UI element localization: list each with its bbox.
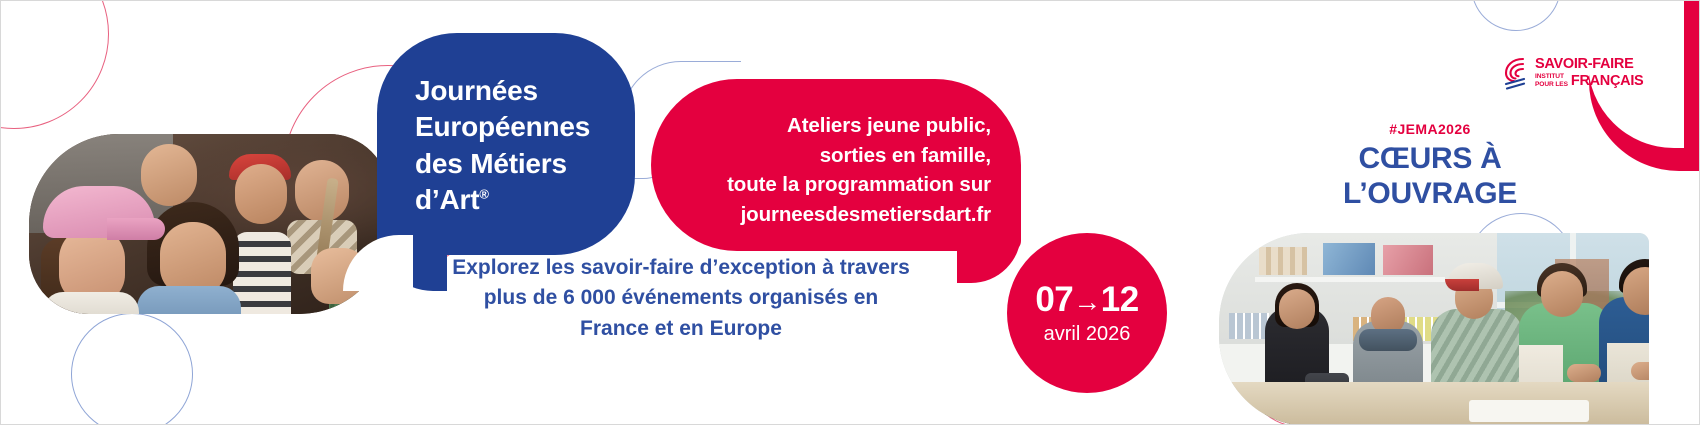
- campaign-headline-line-2: L’OUVRAGE: [1343, 177, 1517, 210]
- color-swatch-one: [1229, 313, 1269, 339]
- event-title: Journées Européennes des Métiers d’Art®: [415, 73, 621, 219]
- logo-line-two: INSTITUT POUR LES FRANÇAIS: [1535, 73, 1643, 89]
- right-panel: SAVOIR-FAIRE INSTITUT POUR LES FRANÇAIS …: [1191, 1, 1700, 425]
- logo-subtitle-line-2: POUR LES: [1535, 81, 1568, 89]
- wall-artwork-one: [1259, 247, 1307, 275]
- event-title-line-1: Journées: [415, 75, 538, 106]
- event-description-line-2: plus de 6 000 événements organisés en: [484, 286, 879, 309]
- program-info-line-2: sorties en famille,: [820, 144, 991, 167]
- logo-subtitle: INSTITUT POUR LES: [1535, 73, 1568, 89]
- visitor-two-scarf: [1359, 329, 1417, 351]
- logo-line-savoir-faire: SAVOIR-FAIRE: [1535, 57, 1643, 72]
- visitor-three-cap-brim: [1445, 279, 1479, 291]
- artisan-one-face: [1541, 271, 1583, 317]
- striped-shirt-person: [233, 232, 291, 314]
- wall-artwork-three: [1383, 245, 1433, 275]
- left-photo-children-craft-demo: [29, 134, 389, 314]
- event-title-line-3: des Métiers: [415, 148, 567, 179]
- arrow-right-icon: →: [1073, 286, 1101, 317]
- campaign-hashtag: #JEMA2026: [1191, 121, 1669, 137]
- visitor-one-face: [1279, 289, 1315, 329]
- event-description: Explorez les savoir-faire d’exception à …: [401, 253, 961, 344]
- event-date-badge: 07→12 avril 2026: [1007, 233, 1167, 393]
- child-one-body: [43, 292, 139, 314]
- woman-face: [141, 144, 197, 206]
- date-range: 07→12: [1035, 282, 1138, 317]
- event-title-line-4: d’Art: [415, 184, 479, 215]
- wall-artwork-two: [1323, 243, 1375, 275]
- logo-subtitle-line-1: INSTITUT: [1535, 73, 1568, 81]
- child-two-body: [137, 286, 241, 314]
- campaign-headline-line-1: CŒURS À: [1359, 142, 1502, 175]
- event-description-line-3: France et en Europe: [580, 317, 782, 340]
- trademark-symbol: ®: [479, 187, 488, 202]
- pink-cap-brim: [107, 218, 165, 240]
- decorative-circle-pink-top-left: [0, 0, 109, 129]
- date-start: 07: [1035, 280, 1073, 319]
- jema-promotional-banner: Journées Européennes des Métiers d’Art® …: [0, 0, 1700, 425]
- program-info-line-3: toute la programmation sur: [727, 173, 991, 196]
- date-month-year: avril 2026: [1044, 324, 1131, 344]
- logo-wordmark: SAVOIR-FAIRE INSTITUT POUR LES FRANÇAIS: [1535, 57, 1643, 88]
- campaign-headline: CŒURS À L’OUVRAGE: [1191, 141, 1669, 212]
- shell-spiral-logo-icon: [1503, 55, 1529, 91]
- right-photo-artisans-workshop: [1219, 233, 1649, 425]
- workbench-paper: [1469, 400, 1589, 422]
- logo-line-francais: FRANÇAIS: [1571, 74, 1644, 89]
- event-description-line-1: Explorez les savoir-faire d’exception à …: [452, 256, 910, 279]
- crimson-speech-bubble: Ateliers jeune public, sorties en famill…: [651, 79, 1021, 251]
- artisan-two-hand: [1631, 362, 1649, 380]
- institut-savoir-faire-francais-logo[interactable]: SAVOIR-FAIRE INSTITUT POUR LES FRANÇAIS: [1503, 55, 1643, 91]
- left-photo-scene: [29, 134, 389, 314]
- artisan-one-hand: [1567, 364, 1601, 382]
- wall-shelf: [1255, 277, 1445, 282]
- decorative-circle-blue-bottom-left: [71, 313, 193, 425]
- date-end: 12: [1101, 280, 1139, 319]
- crimson-bubble-tail: [957, 233, 1021, 283]
- red-cap-person-face: [235, 164, 287, 224]
- program-website-url[interactable]: journeesdesmetiersdart.fr: [741, 203, 991, 226]
- program-info: Ateliers jeune public, sorties en famill…: [669, 111, 991, 230]
- event-title-line-2: Européennes: [415, 111, 590, 142]
- child-two-face: [160, 222, 226, 296]
- program-info-line-1: Ateliers jeune public,: [787, 114, 991, 137]
- blue-speech-bubble: Journées Européennes des Métiers d’Art®: [377, 33, 635, 255]
